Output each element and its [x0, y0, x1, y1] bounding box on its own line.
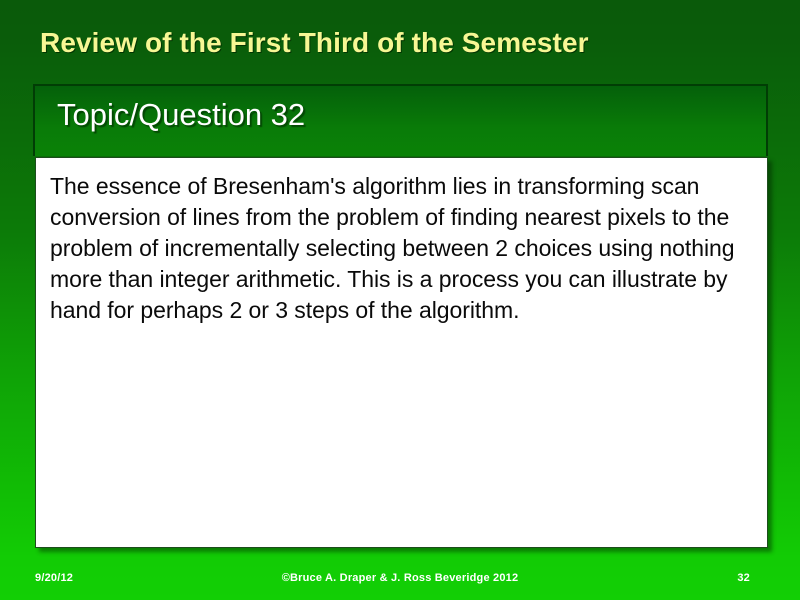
content-panel: The essence of Bresenham's algorithm lie… — [35, 157, 768, 548]
presentation-slide: Review of the First Third of the Semeste… — [0, 0, 800, 600]
subtitle-text: Topic/Question 32 — [57, 97, 305, 133]
footer-copyright: ©Bruce A. Draper & J. Ross Beveridge 201… — [0, 572, 800, 584]
footer-page-number: 32 — [737, 572, 750, 584]
page-title: Review of the First Third of the Semeste… — [40, 27, 740, 59]
subtitle-banner: Topic/Question 32 — [33, 84, 768, 156]
slide-footer: 9/20/12 ©Bruce A. Draper & J. Ross Bever… — [0, 569, 800, 589]
body-text: The essence of Bresenham's algorithm lie… — [50, 171, 751, 326]
